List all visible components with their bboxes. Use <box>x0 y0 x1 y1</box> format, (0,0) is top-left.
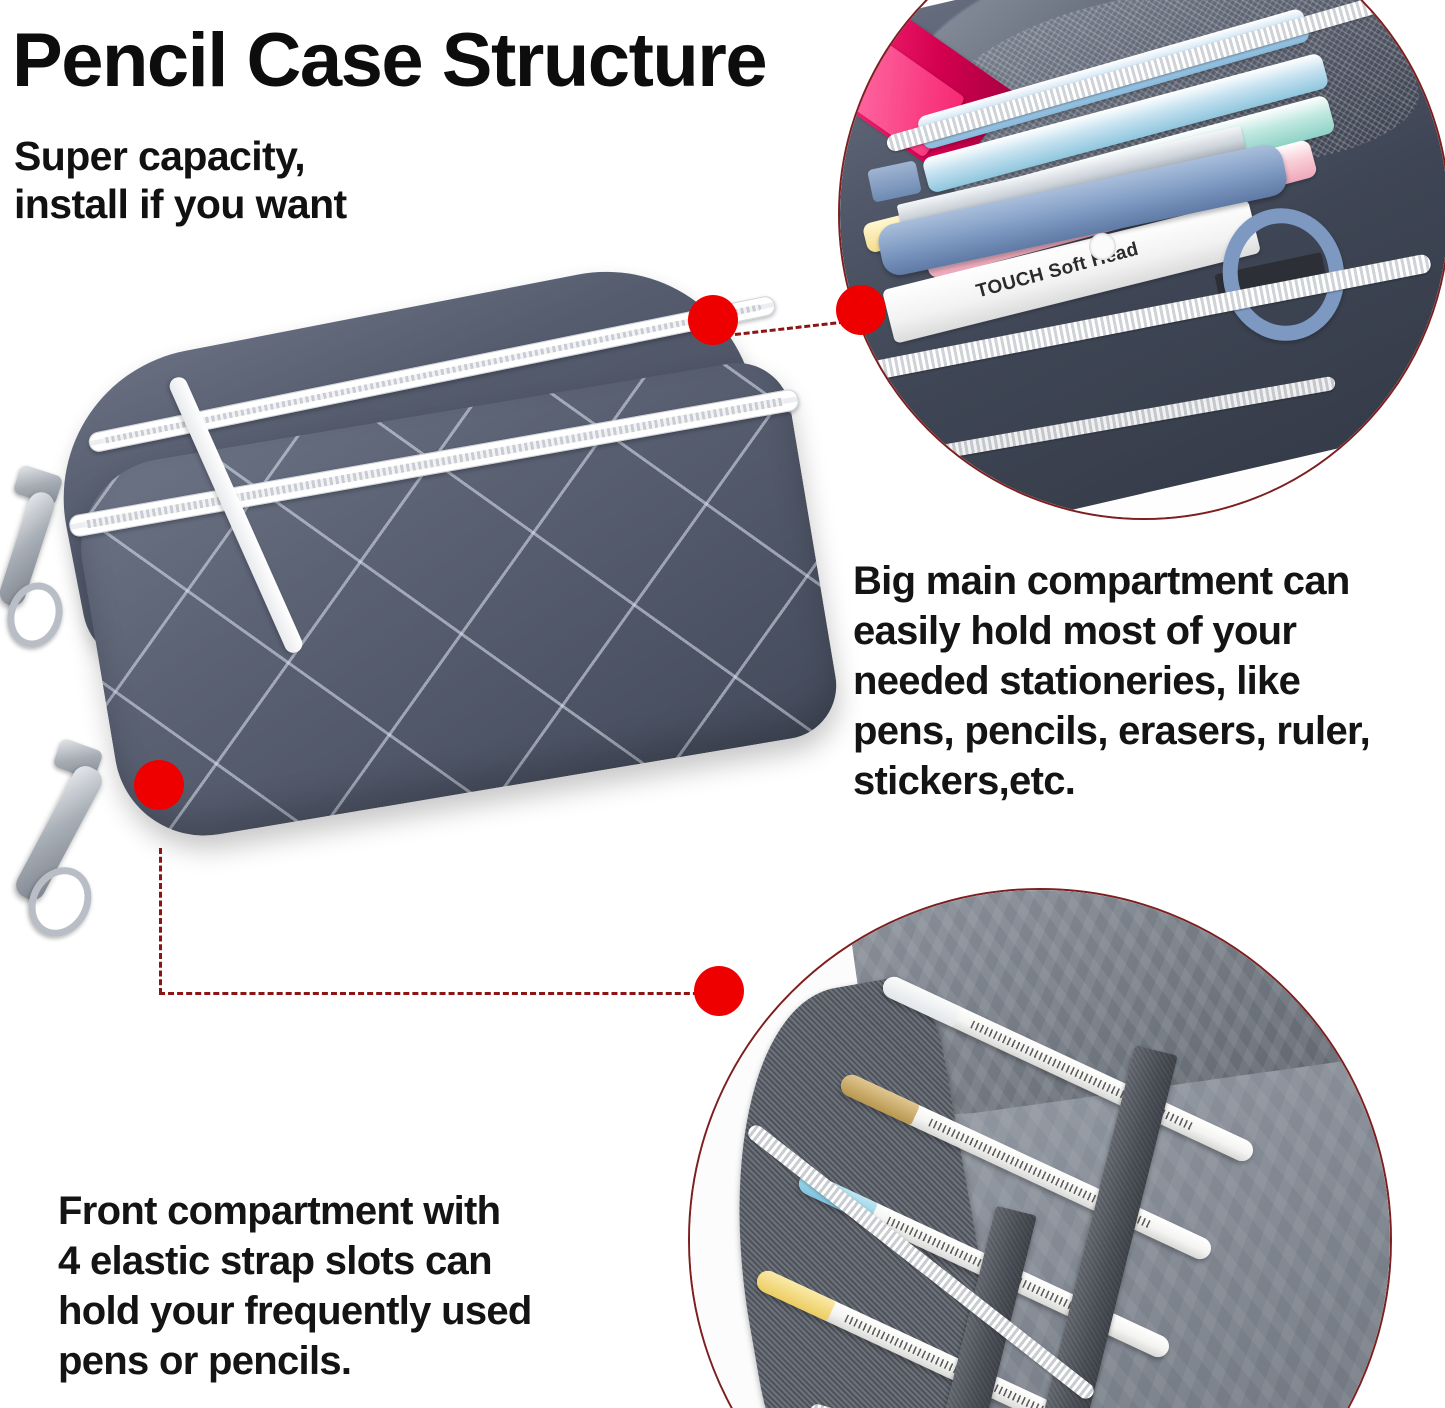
inset-bottom-content <box>690 890 1390 1408</box>
product-photo-pencil-case <box>22 292 840 912</box>
leader-line-front-vertical <box>159 848 162 994</box>
caption-line: pens or pencils. <box>58 1336 532 1386</box>
page-subtitle: Super capacity, install if you want <box>14 132 347 229</box>
inset-top-content: TOUCH Soft Head <box>840 0 1445 518</box>
inset-photo-main-compartment: TOUCH Soft Head <box>838 0 1445 520</box>
callout-dot-main-on-product[interactable] <box>688 295 738 345</box>
caption-line: easily hold most of your <box>853 606 1370 656</box>
inset-photo-front-compartment <box>688 888 1392 1408</box>
callout-dot-front-on-inset[interactable] <box>694 966 744 1016</box>
subtitle-line-2: install if you want <box>14 180 347 228</box>
caption-main-compartment: Big main compartment can easily hold mos… <box>853 556 1370 806</box>
page-title: Pencil Case Structure <box>12 22 766 100</box>
caption-line: hold your frequently used <box>58 1286 532 1336</box>
caption-line: stickers,etc. <box>853 756 1370 806</box>
infographic-canvas: Pencil Case Structure Super capacity, in… <box>0 0 1445 1408</box>
callout-dot-front-on-product[interactable] <box>134 760 184 810</box>
caption-front-compartment: Front compartment with 4 elastic strap s… <box>58 1186 532 1386</box>
subtitle-line-1: Super capacity, <box>14 132 347 180</box>
caption-line: Big main compartment can <box>853 556 1370 606</box>
leader-line-front-horizontal <box>159 992 717 995</box>
callout-dot-main-on-inset[interactable] <box>836 285 886 335</box>
caption-line: needed stationeries, like <box>853 656 1370 706</box>
caption-line: pens, pencils, erasers, ruler, <box>853 706 1370 756</box>
caption-line: 4 elastic strap slots can <box>58 1236 532 1286</box>
caption-line: Front compartment with <box>58 1186 532 1236</box>
